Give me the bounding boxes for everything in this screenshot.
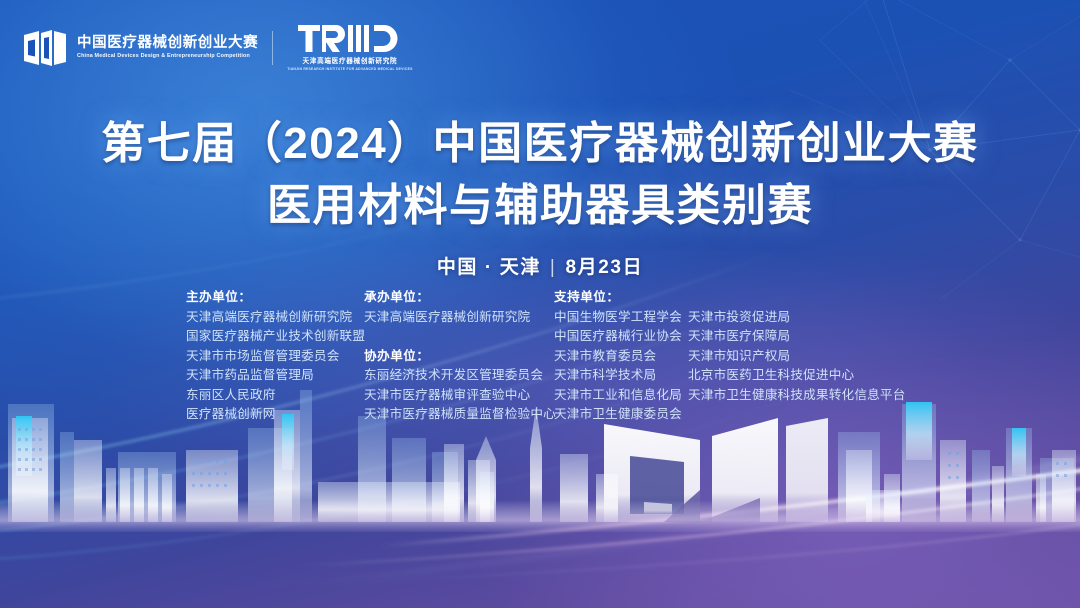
competition-logo: 中国医疗器械创新创业大赛 China Medical Devices Desig… [22,29,258,67]
institute-logo-cn: 天津高端医疗器械创新研究院 [302,55,397,65]
list-item: 天津市投资促进局 [688,308,888,328]
list-item: 天津市医疗器械质量监督检验中心 [364,405,554,425]
list-item: 天津市医疗保障局 [688,327,888,347]
institute-logo-en: TIANJIN RESEARCH INSTITUTE FOR ADVANCED … [287,67,412,71]
list-item: 天津高端医疗器械创新研究院 [364,308,554,328]
supporters-column-b: 天津市投资促进局 天津市医疗保障局 天津市知识产权局 北京市医药卫生科技促进中心… [688,288,888,405]
competition-logo-cn: 中国医疗器械创新创业大赛 [77,36,258,51]
event-poster: 中国医疗器械创新创业大赛 China Medical Devices Desig… [0,0,1080,608]
list-item: 天津市市场监督管理委员会 [186,347,364,367]
list-item: 东丽区人民政府 [186,386,364,406]
list-item: 中国医疗器械行业协会 [554,327,688,347]
list-item: 天津高端医疗器械创新研究院 [186,308,364,328]
list-item: 东丽经济技术开发区管理委员会 [364,366,554,386]
open-door-icon [22,29,68,67]
list-item: 天津市卫生健康科技成果转化信息平台 [688,386,888,406]
subtitle-separator: | [550,257,557,279]
list-item: 天津市科学技术局 [554,366,688,386]
event-location: 中国 · 天津 [437,257,541,278]
supporters-column-a: 支持单位： 中国生物医学工程学会 中国医疗器械行业协会 天津市教育委员会 天津市… [554,288,688,425]
main-title-line2: 医用材料与辅助器具类别赛 [0,178,1080,234]
header-logo-bar: 中国医疗器械创新创业大赛 China Medical Devices Desig… [22,23,413,73]
list-item: 天津市知识产权局 [688,347,888,367]
title-block: 第七届（2024）中国医疗器械创新创业大赛 医用材料与辅助器具类别赛 中国 · … [0,116,1080,279]
trimd-wordmark-icon [298,25,402,52]
list-item: 天津市卫生健康委员会 [554,405,688,425]
list-item: 中国生物医学工程学会 [554,308,688,328]
logo-divider [272,31,273,65]
organizers-column: 主办单位： 天津高端医疗器械创新研究院 国家医疗器械产业技术创新联盟 天津市市场… [186,288,364,425]
main-title-line1: 第七届（2024）中国医疗器械创新创业大赛 [0,116,1080,172]
list-item: 国家医疗器械产业技术创新联盟 [186,327,364,347]
organizations-block: 主办单位： 天津高端医疗器械创新研究院 国家医疗器械产业技术创新联盟 天津市市场… [186,288,888,425]
hosts-column: 承办单位： 天津高端医疗器械创新研究院 协办单位： 东丽经济技术开发区管理委员会… [364,288,554,425]
column-spacer [364,327,554,347]
list-item: 北京市医药卫生科技促进中心 [688,366,888,386]
event-date: 8月23日 [565,257,643,278]
list-item: 天津市工业和信息化局 [554,386,688,406]
coorganizer-heading: 协办单位： [364,347,554,367]
supporters-heading: 支持单位： [554,288,688,308]
list-item: 医疗器械创新网 [186,405,364,425]
institute-logo: 天津高端医疗器械创新研究院 TIANJIN RESEARCH INSTITUTE… [287,25,412,71]
event-subtitle: 中国 · 天津|8月23日 [0,252,1080,279]
competition-logo-en: China Medical Devices Design & Entrepren… [77,54,258,59]
list-item: 天津市药品监督管理局 [186,366,364,386]
undertaker-heading: 承办单位： [364,288,554,308]
list-item: 天津市教育委员会 [554,347,688,367]
list-item: 天津市医疗器械审评查验中心 [364,386,554,406]
organizers-heading: 主办单位： [186,288,364,308]
